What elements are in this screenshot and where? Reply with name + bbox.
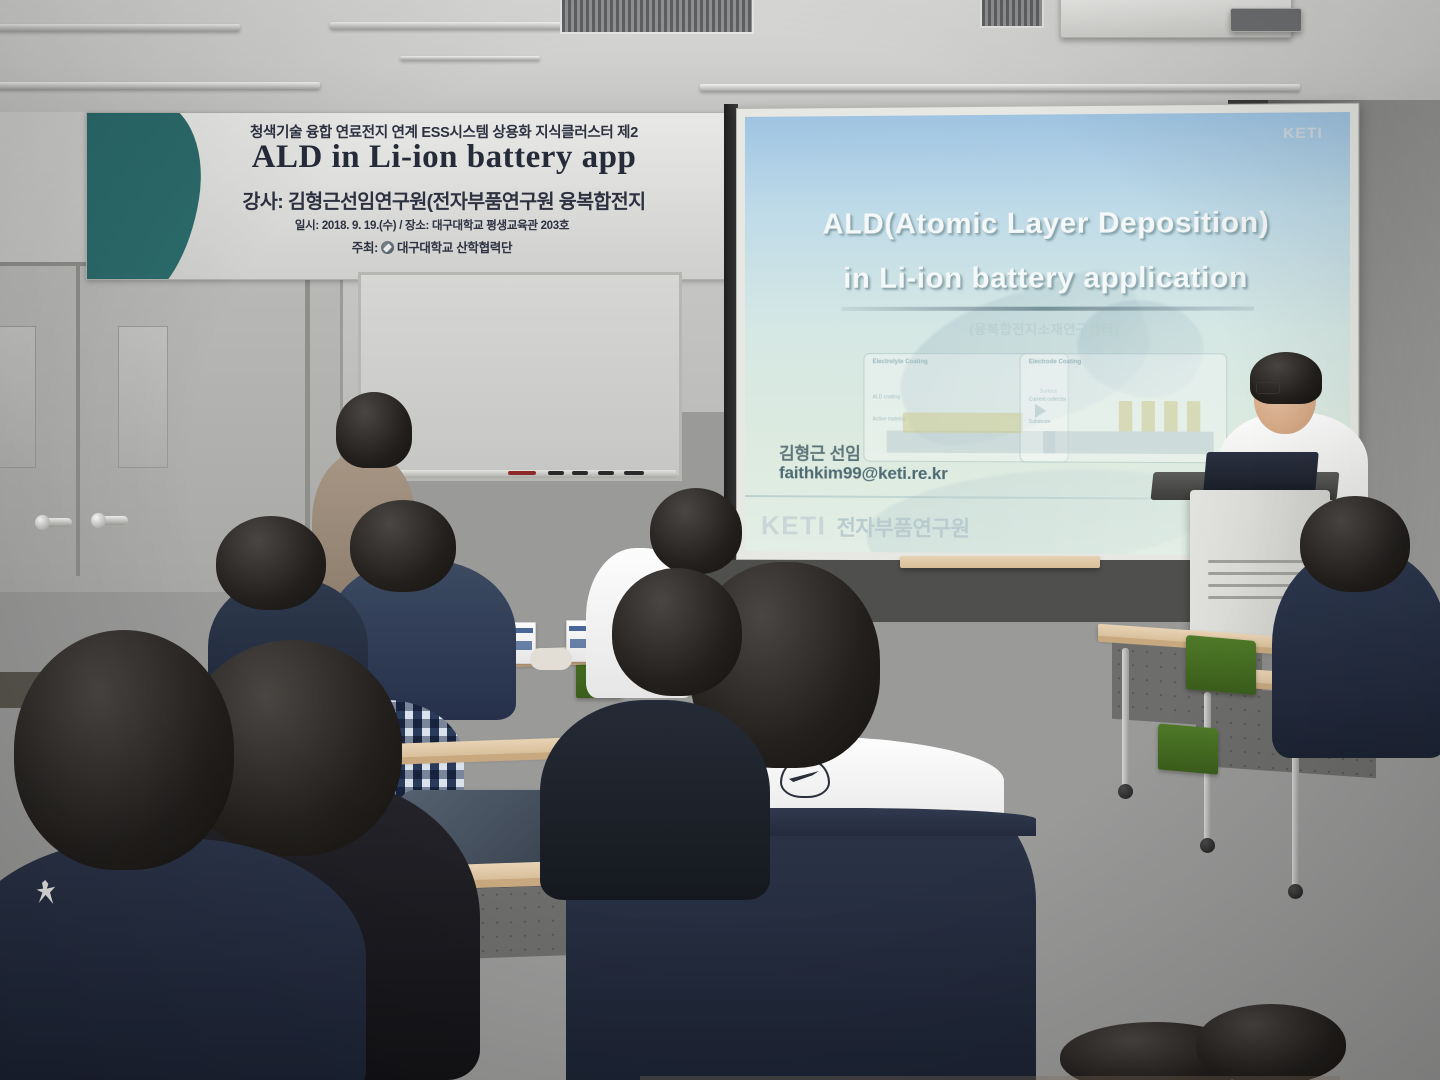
banner-host-org: 대구대학교 산학협력단 — [397, 241, 512, 255]
attendee-head — [612, 568, 742, 696]
laptop[interactable] — [1203, 452, 1318, 492]
woman-hair — [336, 392, 412, 468]
diagram-pillar — [1142, 401, 1155, 432]
diagram-pillar — [1119, 401, 1132, 431]
presenter-hair — [1250, 352, 1322, 404]
keti-corner-logo: KETI — [1283, 124, 1323, 142]
projector-lens — [1230, 8, 1302, 32]
attendee-torso — [540, 700, 770, 900]
presenter-glasses-icon — [1256, 382, 1280, 394]
whiteboard-marker[interactable] — [548, 471, 564, 475]
door-handle-right[interactable] — [94, 516, 128, 525]
attendee-head — [350, 500, 456, 592]
napkin — [530, 648, 572, 670]
banner-host-label: 주최: — [352, 241, 378, 255]
slide-presenter-email: faithkim99@keti.re.kr — [779, 463, 948, 484]
door-window-left — [0, 326, 36, 468]
keti-footer-logo: KETI — [761, 510, 826, 542]
diagram-substrate — [1043, 431, 1214, 454]
banner-title: ALD in Li-ion battery app — [161, 139, 727, 176]
jordan-torso — [0, 838, 366, 1080]
nike-swoosh-icon — [789, 771, 819, 782]
ceiling-seam — [400, 56, 540, 60]
lecture-hall-photo: 청색기술 융합 연료전지 연계 ESS시스템 상용화 지식클러스터 제2 ALD… — [0, 0, 1440, 1080]
diagram-pillar — [1164, 401, 1177, 432]
ceiling-seam — [0, 82, 320, 89]
ceiling-vent — [560, 0, 754, 34]
ceiling-vent — [980, 0, 1044, 28]
whiteboard-marker[interactable] — [572, 471, 588, 475]
slide-footer: KETI 전자부품연구원 — [761, 510, 970, 543]
desk-caster — [1118, 784, 1133, 799]
front-shelf — [900, 556, 1100, 568]
university-emblem-icon — [381, 241, 394, 254]
slide-subtitle: (융복합전지소재연구센터) — [745, 319, 1350, 338]
event-banner: 청색기술 융합 연료전지 연계 ESS시스템 상용화 지식클러스터 제2 ALD… — [86, 112, 728, 280]
whiteboard-eraser[interactable] — [508, 471, 536, 475]
desk-caster — [1288, 884, 1303, 899]
keti-footer-org: 전자부품연구원 — [836, 512, 969, 543]
desk-caster — [1200, 838, 1215, 853]
door-window-right — [118, 326, 168, 468]
diagram-right-caption: Electrode Coating — [1029, 359, 1082, 365]
chair[interactable] — [1186, 635, 1256, 695]
attendee-head — [1196, 1004, 1346, 1080]
door-center-seam — [76, 266, 80, 576]
attendee-head — [14, 630, 234, 870]
diagram-label: ALD coating — [873, 394, 901, 400]
floor-seam — [640, 1076, 1340, 1080]
diagram-label: Active material — [873, 416, 906, 422]
ceiling-seam — [0, 24, 240, 31]
podium-slot — [1208, 560, 1308, 563]
banner-date-place: 일시: 2018. 9. 19.(수) / 장소: 대구대학교 평생교육관 20… — [147, 217, 717, 233]
desk-leg — [1122, 648, 1129, 788]
diagram-pillar — [1187, 401, 1200, 432]
door-handle-left[interactable] — [38, 518, 72, 527]
podium-slot — [1208, 572, 1308, 575]
diagram-left-caption: Electrolyte Coating — [873, 359, 928, 365]
attendee-head — [650, 488, 742, 574]
diagram-label: Current collector — [1029, 397, 1066, 403]
slide-title-line-2: in Li-ion battery application — [745, 261, 1350, 296]
chair[interactable] — [1158, 723, 1218, 774]
banner-speaker-line: 강사: 김형근선임연구원(전자부품연구원 융복합전지 — [161, 185, 727, 214]
whiteboard-marker[interactable] — [598, 471, 614, 475]
slide-presenter-name: 김형근 선임 — [779, 439, 861, 464]
attendee-head — [216, 516, 326, 610]
ceiling-seam — [700, 84, 1300, 91]
diagram-active-layer — [903, 412, 1023, 433]
whiteboard-marker[interactable] — [624, 471, 644, 475]
banner-host-line: 주최:대구대학교 산학협력단 — [147, 237, 717, 256]
slide-title-line-1: ALD(Atomic Layer Deposition) — [745, 206, 1350, 242]
attendee-head — [1300, 496, 1410, 592]
slide-diagram-right: Electrode Coating Current collector Subs… — [1020, 353, 1228, 463]
slide-title-underline — [841, 306, 1254, 310]
diagram-label: Substrate — [1029, 419, 1051, 425]
